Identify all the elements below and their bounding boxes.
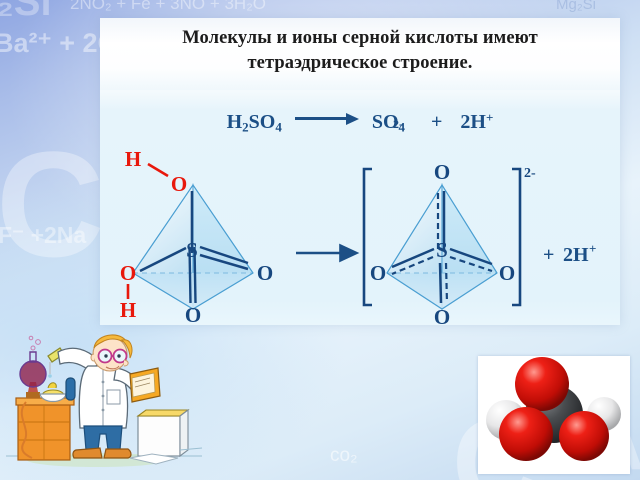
- ion-label-top-oxygen: O: [434, 160, 450, 184]
- equation-reactant: H2SO4: [227, 111, 282, 133]
- label-top-oxygen: O: [171, 172, 187, 196]
- reactant-so: SO: [249, 111, 276, 133]
- background-top-formula: 2NO₂ + Fe + 3NO + 3H₂O: [70, 0, 266, 14]
- ion-label-sulfur: S: [436, 238, 448, 262]
- equation-plus-sign: +: [431, 111, 442, 133]
- cartoon-chemist-illustration: [2, 330, 207, 478]
- reactant-h: H: [227, 111, 243, 133]
- chemical-equation: H2SO4 SO42- + 2H+: [100, 110, 620, 135]
- background-top-right-formula: Mg₂Si: [556, 0, 596, 13]
- title-line-1: Молекулы и ионы серной кислоты имеют: [128, 26, 592, 51]
- product-charge: 2-: [393, 117, 403, 132]
- content-panel: Молекулы и ионы серной кислоты имеют тет…: [100, 18, 620, 325]
- sulfate-ion-structure: 2-: [364, 160, 536, 325]
- bond-top-hydrogen-oxygen: [148, 164, 168, 176]
- equation-product-sulfate: SO42-: [372, 111, 405, 133]
- label-left-oxygen: O: [120, 261, 136, 285]
- background-left-giant-letter: C: [0, 118, 104, 291]
- label-top-hydrogen: H: [125, 147, 141, 171]
- title-line-2: тетраэдрическое строение.: [128, 51, 592, 76]
- oxygen-atom-lower-left: [499, 407, 553, 461]
- background-bottom-co2: co₂: [330, 445, 357, 467]
- arrow-right-icon: [295, 112, 359, 124]
- right-2h-charge: +: [589, 241, 596, 256]
- oxygen-atom-lower-right: [559, 411, 609, 461]
- reactant-sub-4: 4: [275, 119, 282, 134]
- label-bottom-oxygen: O: [185, 303, 201, 325]
- ion-label-bottom-oxygen: O: [434, 305, 450, 325]
- structure-diagram: H O O H S O O 2-: [100, 143, 620, 325]
- right-plus-sign: +: [543, 244, 554, 266]
- label-sulfur: S: [186, 238, 198, 262]
- equation-product-proton: 2H+: [460, 111, 493, 133]
- page-title: Молекулы и ионы серной кислоты имеют тет…: [128, 26, 592, 76]
- label-right-oxygen: O: [257, 261, 273, 285]
- background-top-left-formula: ₂Si: [0, 0, 52, 25]
- product-2h: 2H: [460, 111, 486, 133]
- ion-tetrahedron-bottom-face: [387, 273, 497, 309]
- background-left-formula: F⁻ +2Na: [0, 222, 86, 249]
- ion-bond-bottom-solid: [440, 263, 441, 303]
- oxygen-atom-top: [515, 357, 569, 411]
- ion-label-right-oxygen: O: [499, 261, 515, 285]
- ion-label-left-oxygen: O: [370, 261, 386, 285]
- ion-charge-label: 2-: [524, 166, 536, 181]
- sulfuric-acid-molecule-model: [478, 356, 630, 474]
- right-2h-label: 2H: [563, 244, 589, 266]
- h2so4-structure: H O O H S O O: [120, 147, 273, 325]
- right-side-proton-term: + 2H +: [543, 241, 596, 266]
- slide-canvas: 2NO₂ + Fe + 3NO + 3H₂O ₂Si Mg₂Si Ba²⁺ + …: [0, 0, 640, 480]
- label-left-hydrogen: H: [120, 298, 136, 322]
- product-h-charge: +: [486, 110, 493, 125]
